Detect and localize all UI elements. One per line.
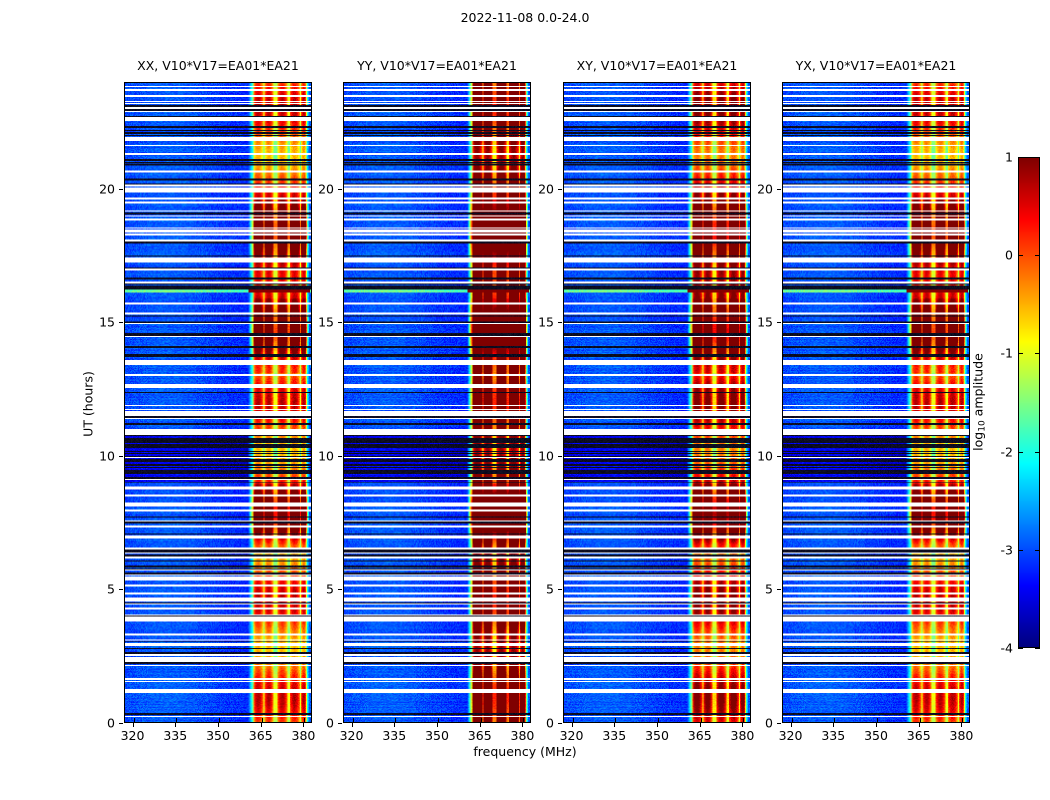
x-tick-label: 335: [382, 728, 406, 743]
y-ticks-xy: 05101520: [562, 82, 563, 723]
x-tick-label: 380: [731, 728, 755, 743]
panel-title-yx: YX, V10*V17=EA01*EA21: [742, 58, 1010, 73]
waterfall-image-yx: [783, 83, 969, 722]
x-tick-label: 320: [779, 728, 803, 743]
y-tick: [777, 189, 781, 190]
x-tick-inner: [481, 718, 482, 722]
y-tick-label: 5: [546, 582, 554, 597]
x-tick: [919, 723, 920, 727]
waterfall-image-yy: [344, 83, 530, 722]
x-tick: [437, 723, 438, 727]
waterfall-panel-yx: YX, V10*V17=EA01*EA213203353503653800510…: [782, 82, 970, 723]
x-tick: [218, 723, 219, 727]
y-tick: [119, 322, 123, 323]
colorbar-tick: [1035, 452, 1040, 453]
figure-suptitle: 2022-11-08 0.0-24.0: [0, 10, 1050, 25]
colorbar-tick: [1018, 353, 1023, 354]
x-tick-label: 335: [602, 728, 626, 743]
colorbar-tick-label: 1: [1005, 150, 1013, 165]
x-tick-label: 350: [864, 728, 888, 743]
y-tick: [119, 723, 123, 724]
x-tick-inner: [219, 718, 220, 722]
y-tick-label: 15: [538, 315, 554, 330]
y-tick: [777, 322, 781, 323]
y-tick: [777, 456, 781, 457]
y-tick-label: 10: [99, 448, 115, 463]
y-tick-label: 15: [757, 315, 773, 330]
y-tick-label: 0: [546, 716, 554, 731]
colorbar-tick: [1018, 452, 1023, 453]
x-tick-inner: [304, 718, 305, 722]
panel-axes-yx: [782, 82, 970, 723]
waterfall-image-xx: [125, 83, 311, 722]
x-tick-inner: [438, 718, 439, 722]
x-tick: [133, 723, 134, 727]
x-tick-inner: [615, 718, 616, 722]
colorbar-label: log10 amplitude: [971, 353, 988, 451]
y-tick: [119, 456, 123, 457]
x-tick-label: 335: [163, 728, 187, 743]
y-tick-label: 20: [538, 181, 554, 196]
colorbar-tick: [1035, 255, 1040, 256]
y-tick: [119, 189, 123, 190]
y-tick-label: 15: [318, 315, 334, 330]
x-tick-label: 350: [425, 728, 449, 743]
y-tick: [777, 589, 781, 590]
colorbar-tick: [1035, 648, 1040, 649]
y-tick: [558, 456, 562, 457]
x-tick-inner: [920, 718, 921, 722]
y-tick-label: 0: [765, 716, 773, 731]
x-tick-label: 380: [511, 728, 535, 743]
y-tick: [119, 589, 123, 590]
colorbar-label-subscript: 10: [978, 420, 988, 431]
colorbar-label-suffix: amplitude: [971, 353, 986, 420]
x-tick: [742, 723, 743, 727]
x-tick-label: 365: [468, 728, 492, 743]
y-tick-label: 0: [107, 716, 115, 731]
x-tick-label: 320: [121, 728, 145, 743]
colorbar-tick: [1035, 353, 1040, 354]
y-tick: [558, 589, 562, 590]
colorbar-tick: [1035, 157, 1040, 158]
x-tick-inner: [834, 718, 835, 722]
waterfall-panel-xy: XY, V10*V17=EA01*EA213203353503653800510…: [563, 82, 751, 723]
panel-axes-xy: [563, 82, 751, 723]
x-tick-inner: [262, 718, 263, 722]
waterfall-image-xy: [564, 83, 750, 722]
x-tick: [394, 723, 395, 727]
x-tick: [961, 723, 962, 727]
colorbar-tick: [1018, 157, 1023, 158]
x-tick: [614, 723, 615, 727]
x-tick: [261, 723, 262, 727]
y-tick-label: 0: [326, 716, 334, 731]
colorbar-tick-label: -2: [1001, 444, 1013, 459]
x-tick-label: 365: [688, 728, 712, 743]
y-ticks-yy: 05101520: [342, 82, 343, 723]
y-tick: [558, 189, 562, 190]
colorbar-tick-label: -3: [1001, 542, 1013, 557]
x-tick-label: 320: [560, 728, 584, 743]
y-tick-label: 20: [757, 181, 773, 196]
x-tick: [657, 723, 658, 727]
x-tick-label: 365: [249, 728, 273, 743]
colorbar-tick: [1035, 550, 1040, 551]
x-tick-label: 380: [950, 728, 974, 743]
y-tick: [558, 723, 562, 724]
figure-canvas: 2022-11-08 0.0-24.0 XX, V10*V17=EA01*EA2…: [0, 0, 1050, 800]
x-tick-inner: [792, 718, 793, 722]
x-tick-inner: [877, 718, 878, 722]
y-tick-label: 20: [99, 181, 115, 196]
colorbar-tick: [1018, 550, 1023, 551]
x-tick-label: 365: [907, 728, 931, 743]
x-tick-label: 350: [645, 728, 669, 743]
x-tick-inner: [523, 718, 524, 722]
y-tick: [338, 589, 342, 590]
waterfall-panel-yy: YY, V10*V17=EA01*EA213203353503653800510…: [343, 82, 531, 723]
x-tick: [303, 723, 304, 727]
x-tick: [791, 723, 792, 727]
x-tick: [700, 723, 701, 727]
x-tick: [833, 723, 834, 727]
x-tick-label: 380: [292, 728, 316, 743]
x-axis-label: frequency (MHz): [0, 744, 1050, 759]
colorbar: [1018, 157, 1040, 648]
x-tick-label: 320: [340, 728, 364, 743]
y-tick-label: 10: [538, 448, 554, 463]
x-tick-inner: [176, 718, 177, 722]
panel-axes-yy: [343, 82, 531, 723]
x-tick-inner: [658, 718, 659, 722]
x-tick: [352, 723, 353, 727]
y-tick: [338, 189, 342, 190]
y-tick-label: 5: [765, 582, 773, 597]
colorbar-tick-label: 0: [1005, 248, 1013, 263]
y-tick: [338, 322, 342, 323]
y-tick-label: 10: [318, 448, 334, 463]
y-tick-label: 5: [107, 582, 115, 597]
y-tick: [558, 322, 562, 323]
y-tick-label: 10: [757, 448, 773, 463]
x-tick: [522, 723, 523, 727]
colorbar-tick: [1018, 648, 1023, 649]
colorbar-tick-label: -1: [1001, 346, 1013, 361]
waterfall-panel-xx: XX, V10*V17=EA01*EA213203353503653800510…: [124, 82, 312, 723]
x-tick-label: 350: [206, 728, 230, 743]
x-tick-inner: [573, 718, 574, 722]
y-tick: [338, 456, 342, 457]
y-tick-label: 5: [326, 582, 334, 597]
y-tick: [338, 723, 342, 724]
x-tick-inner: [134, 718, 135, 722]
colorbar-tick: [1018, 255, 1023, 256]
x-tick-label: 335: [821, 728, 845, 743]
x-tick: [876, 723, 877, 727]
x-tick-inner: [353, 718, 354, 722]
y-ticks-yx: 05101520: [781, 82, 782, 723]
x-tick-inner: [701, 718, 702, 722]
x-tick-inner: [743, 718, 744, 722]
colorbar-label-prefix: log: [971, 432, 986, 451]
panel-axes-xx: [124, 82, 312, 723]
y-ticks-xx: 05101520: [123, 82, 124, 723]
x-tick: [175, 723, 176, 727]
y-tick: [777, 723, 781, 724]
y-tick-label: 15: [99, 315, 115, 330]
x-tick-inner: [962, 718, 963, 722]
y-tick-label: 20: [318, 181, 334, 196]
x-tick-inner: [395, 718, 396, 722]
y-axis-label: UT (hours): [81, 371, 96, 437]
colorbar-tick-label: -4: [1001, 641, 1013, 656]
x-tick: [572, 723, 573, 727]
x-tick: [480, 723, 481, 727]
